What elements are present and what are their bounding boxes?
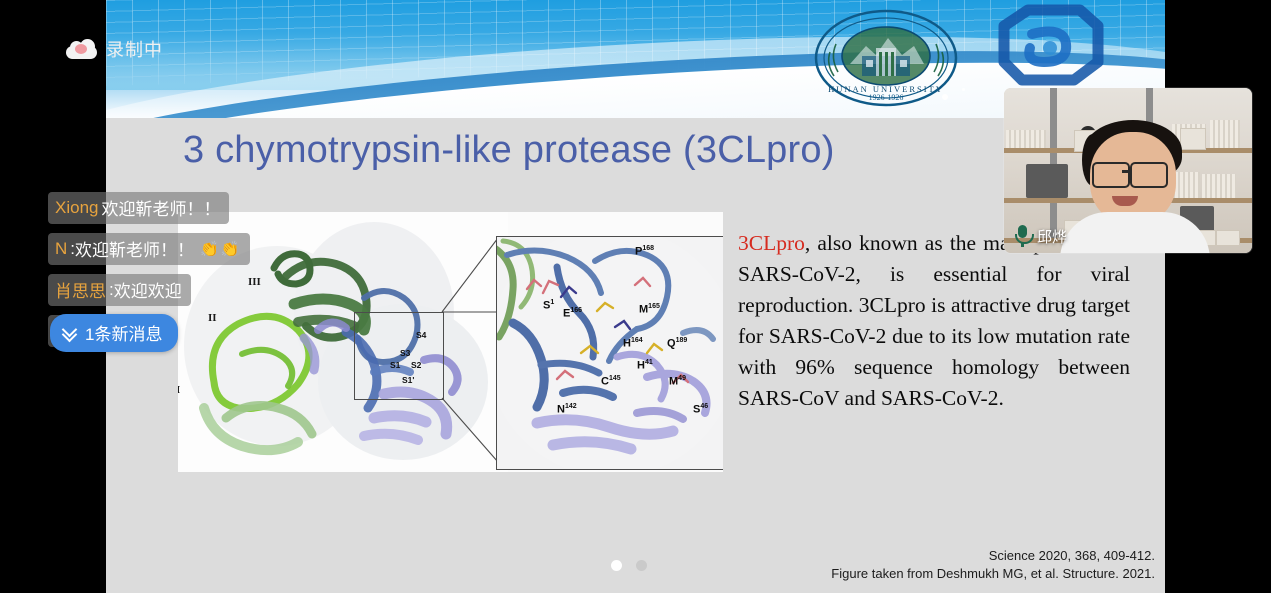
residue-label-M165: M165 xyxy=(639,303,660,316)
chat-message: Xiong 欢迎靳老师！！ xyxy=(48,192,229,224)
chat-message: N : 欢迎靳老师！！ 👏👏 xyxy=(48,233,250,265)
citation-line-1: Science 2020, 368, 409-412. xyxy=(831,547,1155,565)
slide-body-text: 3CLpro, also known as the main protease … xyxy=(738,228,1130,414)
slide-pagination[interactable] xyxy=(611,560,647,571)
chat-text: 欢迎靳老师！！ xyxy=(75,236,194,261)
participant-video-tile[interactable]: 邱烨 xyxy=(1004,88,1252,253)
participant-name-badge: 邱烨 xyxy=(1014,225,1067,247)
chat-overlay: Xiong 欢迎靳老师！！ N : 欢迎靳老师！！ 👏👏 肖思思 : 欢迎欢迎 … xyxy=(48,192,308,356)
residue-label-H164: H164 xyxy=(623,337,643,350)
residue-label-P168: P168 xyxy=(635,245,654,258)
pagination-dot-inactive[interactable] xyxy=(636,560,647,571)
residue-label-Q189: Q189 xyxy=(667,337,687,350)
active-site-inset-panel: P168 S1 E166 M165 H164 Q189 H41 C145 M49… xyxy=(496,236,723,470)
page-title: 3 chymotrypsin-like protease (3CLpro) xyxy=(183,129,835,172)
blue-hexagon-logo xyxy=(992,4,1110,88)
svg-text:HUNAN UNIVERSITY: HUNAN UNIVERSITY xyxy=(828,84,944,94)
residue-label-C145: C145 xyxy=(601,375,621,388)
residue-label-S46: S46 xyxy=(693,403,708,416)
chat-sender: 肖思思 xyxy=(55,277,106,302)
chat-text: 欢迎靳老师！！ xyxy=(101,195,220,220)
residue-label-S1prime: S1 xyxy=(543,299,554,312)
citation-block: Science 2020, 368, 409-412. Figure taken… xyxy=(831,547,1155,583)
hunan-university-seal: 1926-1926 HUNAN UNIVERSITY xyxy=(810,8,962,108)
citation-line-2: Figure taken from Deshmukh MG, et al. St… xyxy=(831,565,1155,583)
chat-message: 肖思思 : 欢迎欢迎 xyxy=(48,274,191,306)
recording-label: 录制中 xyxy=(106,36,163,62)
clap-emoji: 👏👏 xyxy=(200,240,241,258)
microphone-icon xyxy=(1014,225,1031,247)
svg-text:1926-1926: 1926-1926 xyxy=(869,93,904,102)
highlight-term: 3CLpro xyxy=(738,231,805,255)
chat-sender: Xiong xyxy=(55,198,98,218)
cloud-recording-icon xyxy=(66,39,97,59)
residue-label-N142: N142 xyxy=(557,403,577,416)
new-message-label: 1条新消息 xyxy=(85,320,162,345)
residue-label-E166: E166 xyxy=(563,307,582,320)
recording-indicator: 录制中 xyxy=(66,36,163,62)
body-rest: , also known as the main protease of SAR… xyxy=(738,231,1130,410)
chat-sender: N xyxy=(55,239,67,259)
residue-label-H41: H41 xyxy=(637,359,653,372)
pagination-dot-active[interactable] xyxy=(611,560,622,571)
new-message-badge[interactable]: 1条新消息 xyxy=(50,314,178,352)
residue-label-M49: M49 xyxy=(669,375,686,388)
meeting-screen: 录制中 xyxy=(0,0,1271,593)
participant-name: 邱烨 xyxy=(1037,226,1067,247)
chevron-down-icon xyxy=(63,325,78,340)
chat-text: 欢迎欢迎 xyxy=(114,277,182,302)
